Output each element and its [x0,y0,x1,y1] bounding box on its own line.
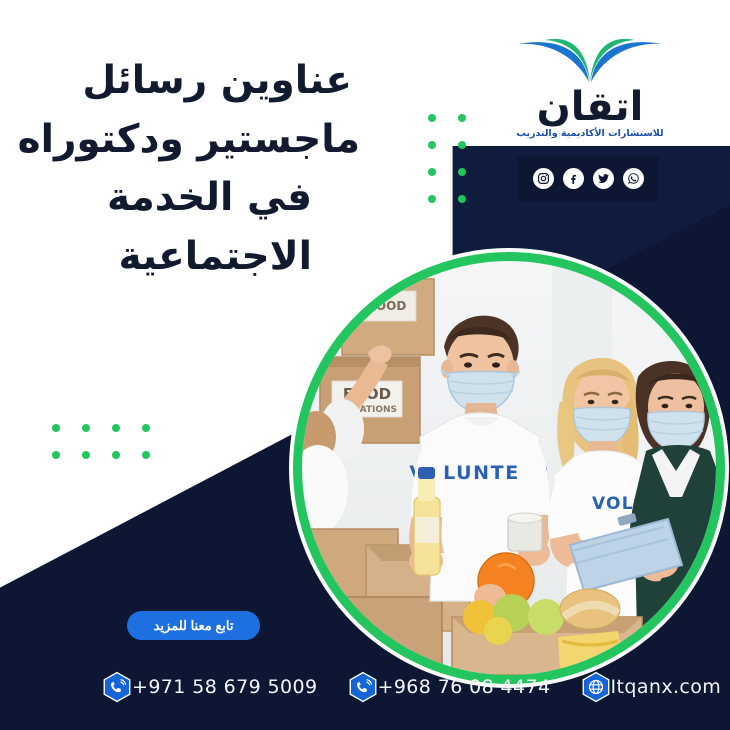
poster-canvas: عناوين رسائل ماجستير ودكتوراه في الخدمة … [0,0,730,730]
decor-dot [112,451,120,459]
decor-dot [142,451,150,459]
facebook-icon[interactable] [563,168,584,189]
decor-dot [458,114,466,122]
contact-row: +971 58 679 5009 +968 76 08 4474 Itqanx.… [100,667,660,707]
svg-text:FOOD: FOOD [368,299,407,313]
decor-dot [428,168,436,176]
open-book-wings-icon [505,26,675,88]
dot-grid-left [52,424,172,478]
decor-dot [428,195,436,203]
globe-icon [579,670,613,704]
decor-dot [82,451,90,459]
decor-dot [458,141,466,149]
follow-us-button[interactable]: تابع معنا للمزيد [127,611,260,640]
svg-text:اتقان: اتقان [537,84,644,130]
decor-dot [52,451,60,459]
phone-icon [100,670,134,704]
logo-subtitle: للاستشارات الأكاديمية والتدريب [505,128,675,139]
decor-dot [142,424,150,432]
contact-website[interactable]: Itqanx.com [579,670,722,704]
contact-phone-2[interactable]: +968 76 08 4474 [346,670,551,704]
decor-dot [428,141,436,149]
volunteer-photo-circle: FOOD DONATIONS FOOD [293,252,725,684]
contact-phone-1[interactable]: +971 58 679 5009 [100,670,318,704]
contact-phone-2-value: +968 76 08 4474 [378,676,551,698]
headline-line-1: عناوين رسائل [10,52,360,111]
instagram-icon[interactable] [533,168,554,189]
brand-logo[interactable]: اتقان للاستشارات الأكاديمية والتدريب [505,26,675,139]
decor-dot [458,168,466,176]
decor-dot [52,424,60,432]
decor-dot [112,424,120,432]
dot-grid-top [428,114,488,222]
headline-line-2: ماجستير ودكتوراه [10,111,360,170]
svg-text:VOL: VOL [592,494,634,514]
twitter-icon[interactable] [593,168,614,189]
decor-dot [82,424,90,432]
whatsapp-icon[interactable] [623,168,644,189]
decor-dot [458,195,466,203]
headline-line-3: في الخدمة [10,169,360,228]
headline-line-4: الاجتماعية [10,228,360,287]
contact-website-value: Itqanx.com [611,676,722,698]
headline: عناوين رسائل ماجستير ودكتوراه في الخدمة … [10,52,360,286]
contact-phone-1-value: +971 58 679 5009 [132,676,318,698]
social-links-bar [517,156,659,201]
logo-wordmark-arabic: اتقان [505,82,675,132]
phone-icon [346,670,380,704]
decor-dot [428,114,436,122]
volunteer-photo: FOOD DONATIONS FOOD [302,261,716,675]
volunteer-photo-clip: FOOD DONATIONS FOOD [302,261,716,675]
